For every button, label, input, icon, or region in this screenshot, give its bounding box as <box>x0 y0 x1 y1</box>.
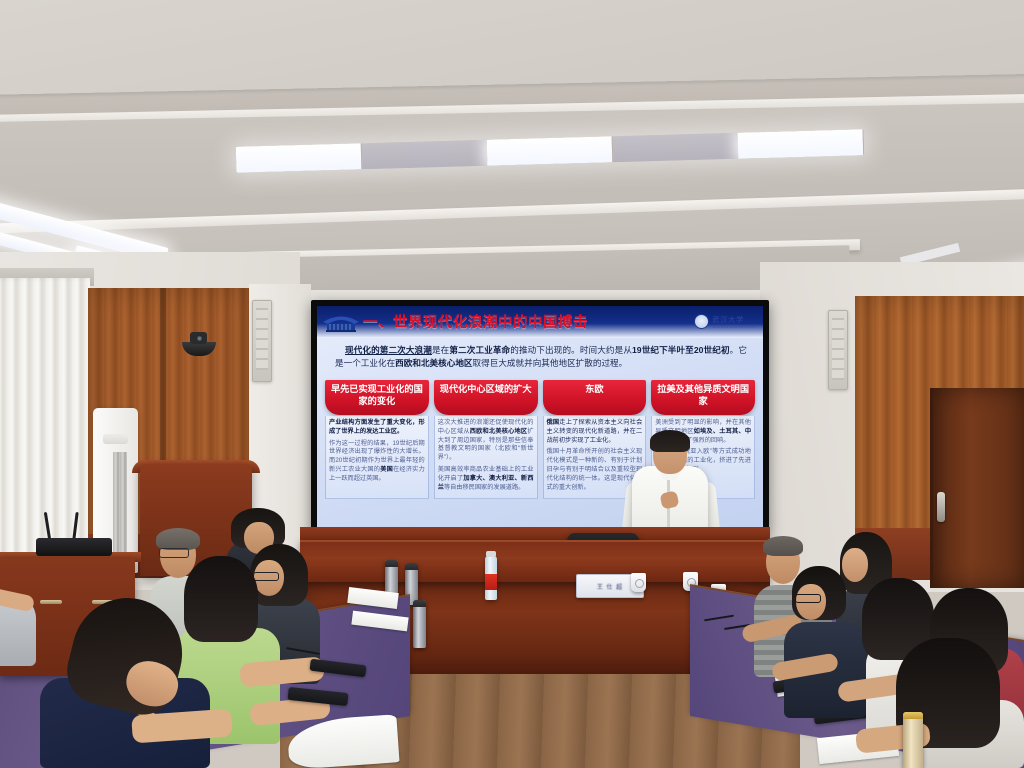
ceiling-light-panel-4 <box>612 133 738 162</box>
nameplate-text: 王 仕 超 <box>597 582 623 591</box>
wall-speaker-right <box>828 310 848 390</box>
slide-box: 东欧 俄国走上了探索从资本主义向社会主义转变的现代化新道路，并在二战前初步实现了… <box>543 380 647 499</box>
ceiling-light-panel-5 <box>738 129 864 158</box>
camera-lens-icon <box>196 335 203 342</box>
speaker-grill-icon <box>256 308 268 370</box>
air-conditioner-vent <box>103 434 128 444</box>
slide-box-body: 这次大推进的浪潮还促使现代化的中心区域从西欧和北美核心地区扩大到了周边国家，特别… <box>434 416 538 499</box>
ceiling-light-panel-3 <box>487 136 613 165</box>
university-emblem-icon <box>694 314 709 329</box>
wifi-router <box>36 538 112 556</box>
slide-paragraph: 现代化的第二次大浪潮是在第二次工业革命的推动下出现的。时间大约是从19世纪下半叶… <box>335 344 747 371</box>
conference-room-photo: 一、世界现代化浪潮中的中国搏击 武汉大学 WUHAN UNIVERSITY 现代… <box>0 0 1024 768</box>
university-subtitle: WUHAN UNIVERSITY <box>712 325 757 329</box>
paper-cup[interactable] <box>631 573 646 592</box>
slide-box-heading: 拉美及其他异质文明国家 <box>651 380 755 415</box>
slide-title: 一、世界现代化浪潮中的中国搏击 <box>363 311 588 332</box>
slide-box-heading: 现代化中心区域的扩大 <box>434 380 538 415</box>
thermos-cap <box>903 712 923 719</box>
university-logo: 武汉大学 WUHAN UNIVERSITY <box>694 314 757 329</box>
eyeglasses-icon <box>159 548 189 558</box>
speaker-grill-icon <box>832 318 844 380</box>
eyeglasses-icon <box>253 572 279 581</box>
slide-box-heading: 早先已实现工业化的国家的变化 <box>325 380 429 415</box>
slide-box: 早先已实现工业化的国家的变化 产业结构方面发生了重大变化，形成了世界上的发达工业… <box>325 380 429 499</box>
slide-box-body: 产业结构方面发生了重大变化，形成了世界上的发达工业区。作为这一过程的结果，19世… <box>325 416 429 499</box>
face <box>842 548 868 582</box>
head-table <box>300 540 770 582</box>
chinese-roof-icon <box>321 310 361 334</box>
entry-door[interactable] <box>930 388 1024 588</box>
eyeglasses-icon <box>795 594 821 603</box>
ceiling-light-panel-1 <box>236 143 362 172</box>
door-handle-icon[interactable] <box>937 492 945 522</box>
thermos-cap <box>385 560 398 567</box>
ceiling-light-panel-2 <box>361 140 487 169</box>
slide-box: 现代化中心区域的扩大 这次大推进的浪潮还促使现代化的中心区域从西欧和北美核心地区… <box>434 380 538 499</box>
thermos-cap <box>405 563 418 570</box>
thermos-flask[interactable] <box>903 712 923 768</box>
hair <box>156 528 200 550</box>
slide-box-heading: 东欧 <box>543 380 647 415</box>
cabinet-handle-icon[interactable] <box>40 600 62 604</box>
thermos-cap <box>413 600 426 607</box>
face <box>208 578 248 626</box>
water-bottle[interactable] <box>485 556 497 600</box>
hair <box>763 536 803 556</box>
wall-speaker-left <box>252 300 272 382</box>
bottle-cap <box>486 551 496 557</box>
presenter-hair <box>650 430 690 452</box>
bottle-label <box>485 574 497 590</box>
thermos-flask[interactable] <box>413 600 426 648</box>
university-name: 武汉大学 <box>712 315 757 325</box>
